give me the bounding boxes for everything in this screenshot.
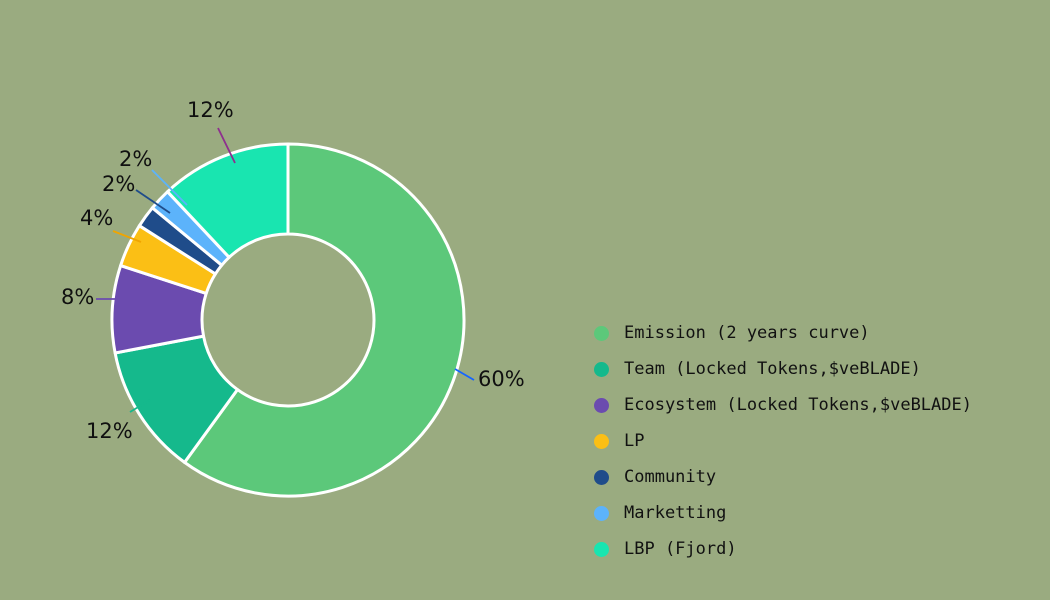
slice-percent-label: 2%	[102, 172, 135, 196]
legend-item-label: Emission (2 years curve)	[624, 323, 870, 343]
legend-item-label: Ecosystem (Locked Tokens,$veBLADE)	[624, 395, 972, 415]
legend-item-label: Marketting	[624, 503, 726, 523]
legend-swatch-icon	[594, 434, 609, 449]
legend-item[interactable]: Ecosystem (Locked Tokens,$veBLADE)	[594, 387, 1024, 423]
legend-item-label: LBP (Fjord)	[624, 539, 737, 559]
chart-legend: Emission (2 years curve)Team (Locked Tok…	[594, 315, 1024, 567]
legend-item-label: LP	[624, 431, 644, 451]
slice-percent-label: 2%	[119, 147, 152, 171]
legend-swatch-icon	[594, 362, 609, 377]
slice-percent-label: 60%	[478, 367, 525, 391]
legend-item[interactable]: Marketting	[594, 495, 1024, 531]
legend-item[interactable]: Team (Locked Tokens,$veBLADE)	[594, 351, 1024, 387]
slice-percent-label: 12%	[86, 419, 133, 443]
legend-item[interactable]: LBP (Fjord)	[594, 531, 1024, 567]
legend-swatch-icon	[594, 470, 609, 485]
slice-percent-label: 12%	[187, 98, 234, 122]
legend-item[interactable]: Community	[594, 459, 1024, 495]
legend-item-label: Community	[624, 467, 716, 487]
chart-canvas: 60%12%8%4%2%2%12% Emission (2 years curv…	[0, 0, 1050, 600]
legend-swatch-icon	[594, 506, 609, 521]
slice-percent-label: 4%	[80, 206, 113, 230]
donut-slices	[112, 144, 464, 496]
legend-item-label: Team (Locked Tokens,$veBLADE)	[624, 359, 921, 379]
legend-swatch-icon	[594, 542, 609, 557]
legend-item[interactable]: LP	[594, 423, 1024, 459]
leader-line	[455, 369, 474, 380]
legend-swatch-icon	[594, 326, 609, 341]
legend-item[interactable]: Emission (2 years curve)	[594, 315, 1024, 351]
slice-percent-label: 8%	[61, 285, 94, 309]
legend-swatch-icon	[594, 398, 609, 413]
